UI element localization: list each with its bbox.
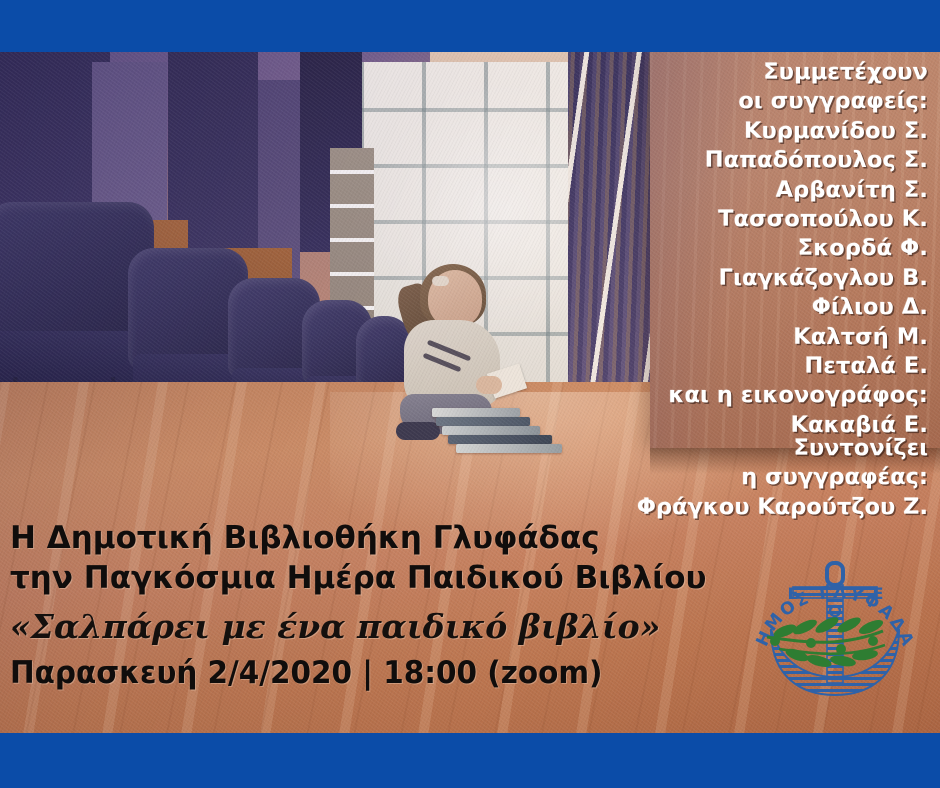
book bbox=[448, 435, 552, 444]
coordinator-block: Συντονίζει η συγγραφέας: Φράγκου Καρούτζ… bbox=[637, 434, 928, 522]
participant-name: Παπαδόπουλος Σ. bbox=[668, 146, 928, 175]
headline-line: Η Δημοτική Βιβλιοθήκη Γλυφάδας bbox=[10, 518, 706, 558]
event-datetime: Παρασκευή 2/4/2020 | 18:00 (zoom) bbox=[10, 651, 672, 695]
shoe bbox=[396, 422, 440, 440]
hair-band bbox=[432, 276, 449, 286]
book bbox=[442, 426, 540, 435]
book bbox=[436, 417, 530, 426]
event-title-quote: «Σαλπάρει με ένα παιδικό βιβλίο» bbox=[10, 602, 706, 651]
coordinator-role: η συγγραφέας: bbox=[637, 463, 928, 492]
illustrator-label: και η εικονογράφος: bbox=[668, 381, 928, 410]
participant-name: Γιαγκάζογλου Β. bbox=[668, 264, 928, 293]
participant-name: Σκορδά Φ. bbox=[668, 234, 928, 263]
book bbox=[432, 408, 520, 417]
bottom-blue-band bbox=[0, 733, 940, 788]
participant-name: Καλτσή Μ. bbox=[668, 323, 928, 352]
participant-name: Αρβανίτη Σ. bbox=[668, 176, 928, 205]
hands bbox=[476, 376, 502, 394]
book bbox=[456, 444, 562, 453]
participants-heading-line: Συμμετέχουν bbox=[668, 58, 928, 87]
headline-line: την Παγκόσμια Ημέρα Παιδικού Βιβλίου bbox=[10, 558, 706, 598]
logo-left-letter: Ε bbox=[788, 584, 799, 603]
logo-right-letter: Ε bbox=[873, 584, 884, 603]
participant-name: Τασσοπούλου Κ. bbox=[668, 205, 928, 234]
headline-block: Η Δημοτική Βιβλιοθήκη Γλυφάδας την Παγκό… bbox=[10, 518, 706, 695]
coordinator-label: Συντονίζει bbox=[637, 434, 928, 463]
glyfada-municipality-logo: ΔΗΜΟΣ ΓΛΥΦΑΔΑΣ Ε Ε bbox=[745, 545, 925, 705]
participant-name: Πεταλά Ε. bbox=[668, 352, 928, 381]
poster-canvas: Συμμετέχουν οι συγγραφείς: Κυρμανίδου Σ.… bbox=[0, 0, 940, 788]
participant-name: Κυρμανίδου Σ. bbox=[668, 117, 928, 146]
participants-heading-line: οι συγγραφείς: bbox=[668, 87, 928, 116]
participant-name: Φίλιου Δ. bbox=[668, 293, 928, 322]
participants-block: Συμμετέχουν οι συγγραφείς: Κυρμανίδου Σ.… bbox=[668, 58, 928, 440]
top-blue-band bbox=[0, 0, 940, 52]
